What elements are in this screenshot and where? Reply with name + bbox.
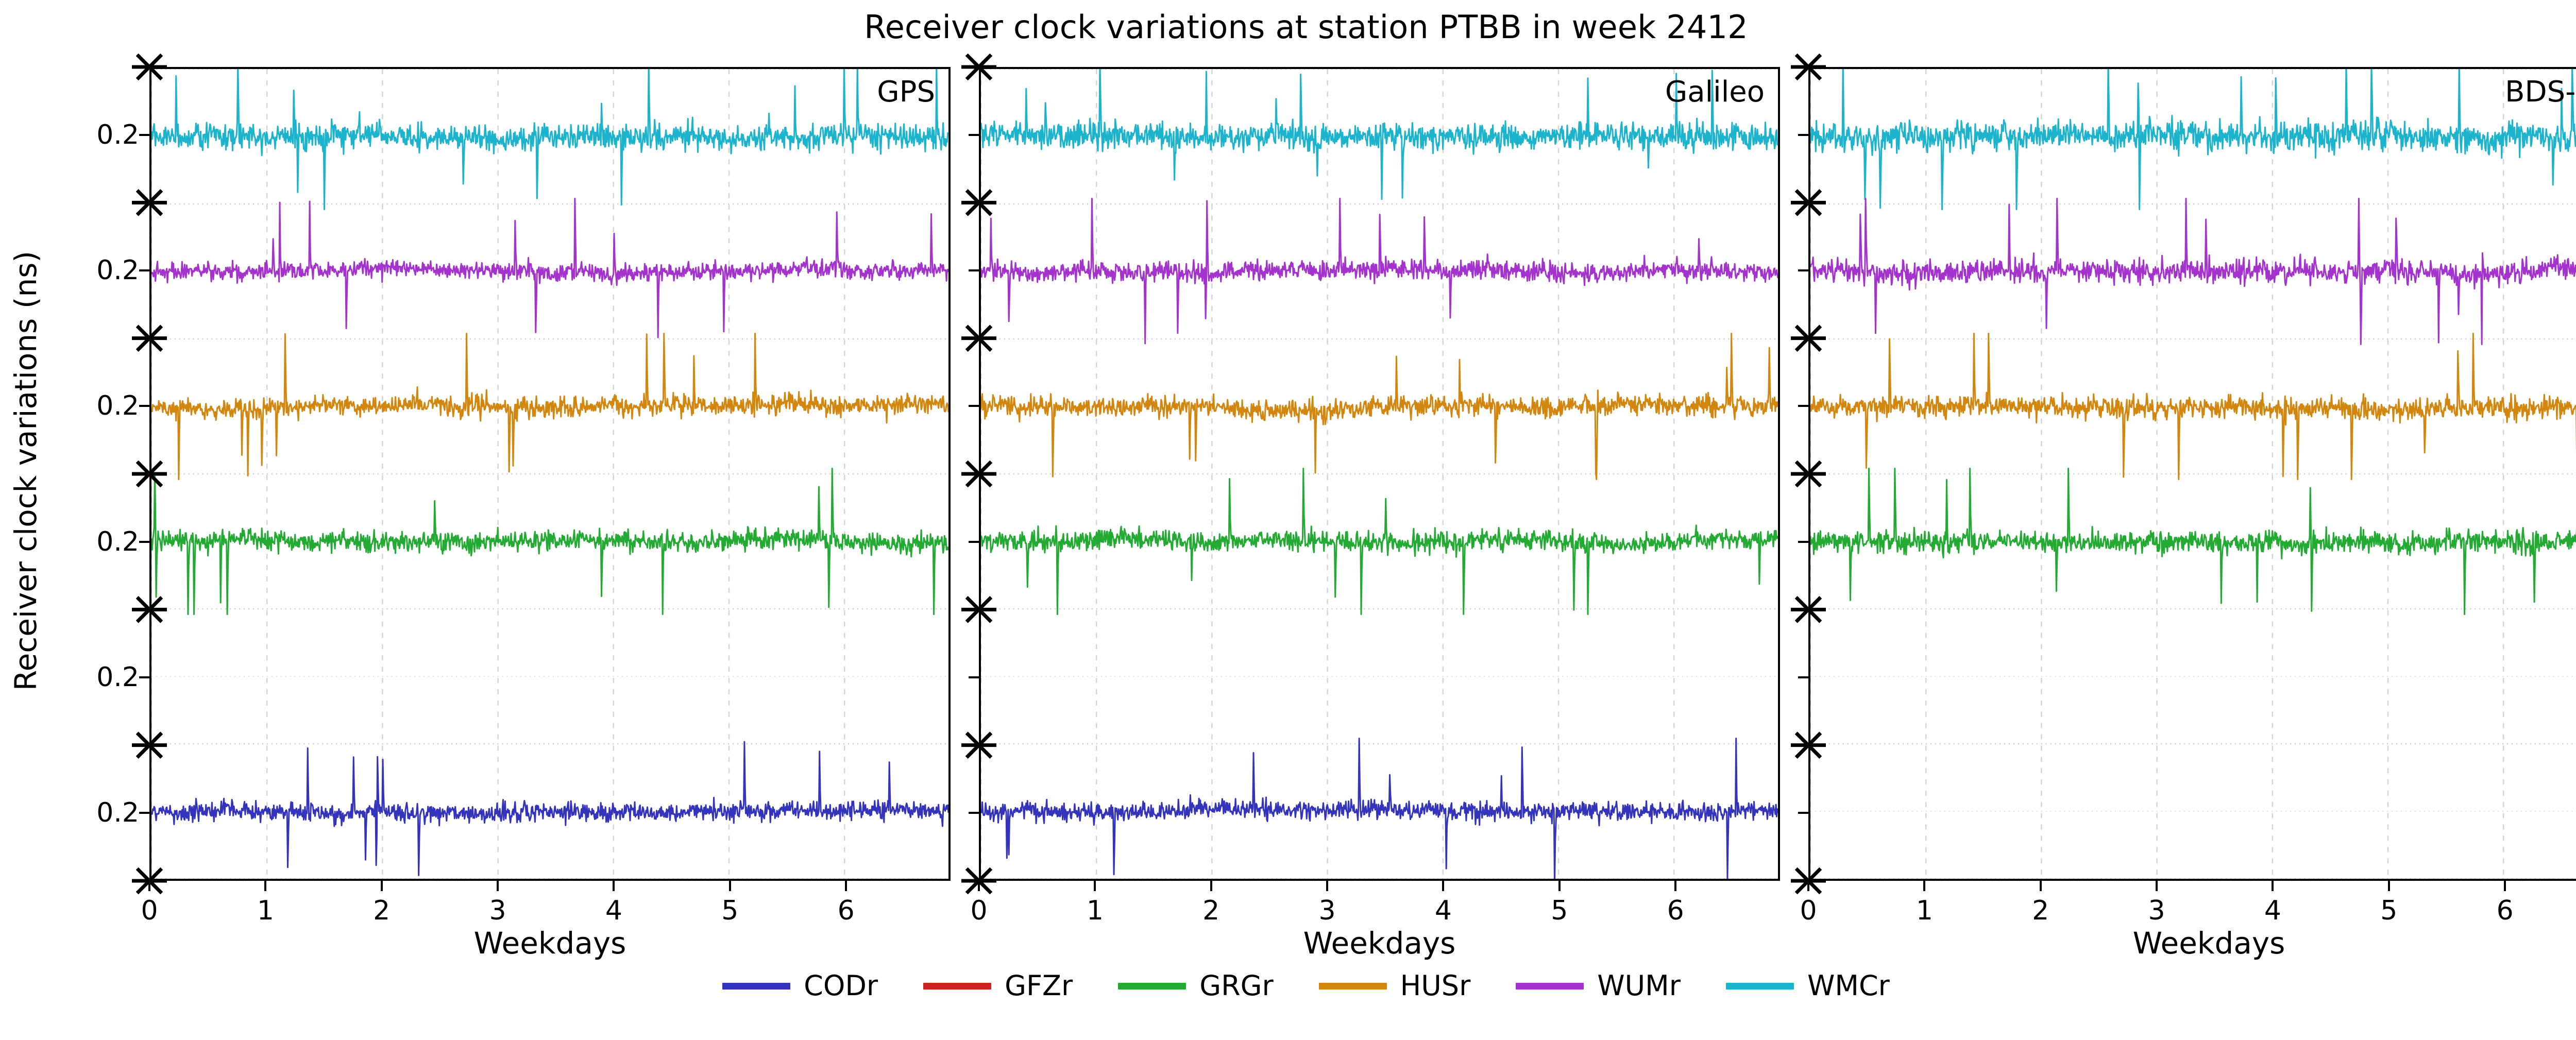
legend-item-grgr[interactable]: GRGr	[1118, 970, 1273, 1001]
legend: CODrGFZrGRGrHUSrWUMrWMCr	[0, 970, 2576, 1001]
panel-label-galileo: Galileo	[1665, 76, 1765, 108]
x-tick-mark	[1923, 881, 1925, 891]
x-tick-label: 3	[2126, 897, 2188, 924]
y-tick-label: 0.2	[62, 257, 139, 284]
x-tick-mark	[2504, 881, 2506, 891]
x-tick-mark	[2272, 881, 2274, 891]
y-tick-mark	[139, 269, 150, 271]
x-tick-mark	[497, 881, 499, 891]
x-tick-label: 5	[1529, 897, 1590, 924]
y-tick-label: 0.2	[62, 799, 139, 826]
x-tick-mark	[1094, 881, 1096, 891]
legend-label: CODr	[804, 970, 878, 1001]
series-line-codr	[151, 742, 948, 875]
y-tick-mark	[969, 676, 980, 678]
x-tick-mark	[264, 881, 266, 891]
x-tick-mark	[1442, 881, 1444, 891]
legend-item-wmcr[interactable]: WMCr	[1726, 970, 1890, 1001]
y-tick-label: 0.2	[62, 664, 139, 691]
series-line-husr	[151, 334, 948, 480]
series-line-wumr	[981, 199, 1778, 344]
y-tick-mark	[139, 405, 150, 407]
legend-item-codr[interactable]: CODr	[722, 970, 878, 1001]
y-tick-mark	[1798, 812, 1809, 814]
chart-figure: Receiver clock variations at station PTB…	[0, 0, 2576, 1040]
x-tick-label: 4	[583, 897, 645, 924]
x-axis-title: Weekdays	[1808, 927, 2576, 959]
panel-label-gps: GPS	[877, 76, 935, 108]
x-tick-mark	[729, 881, 731, 891]
legend-item-husr[interactable]: HUSr	[1319, 970, 1471, 1001]
panel-bds3[interactable]: BDS-3	[1808, 67, 2576, 881]
y-tick-labels: 0.20.20.20.20.20.2	[62, 67, 139, 881]
series-line-grgr	[151, 469, 948, 615]
x-tick-label: 4	[2242, 897, 2303, 924]
x-tick-label: 0	[948, 897, 1010, 924]
x-tick-mark	[1807, 881, 1809, 891]
legend-label: WUMr	[1597, 970, 1681, 1001]
series-line-wmcr	[1810, 69, 2576, 209]
x-tick-label: 6	[1645, 897, 1706, 924]
y-tick-mark	[1798, 134, 1809, 136]
x-tick-label: 6	[815, 897, 877, 924]
y-tick-mark	[1798, 269, 1809, 271]
x-tick-label: 3	[467, 897, 529, 924]
x-tick-label: 6	[2474, 897, 2536, 924]
series-line-wmcr	[981, 69, 1778, 199]
y-tick-mark	[969, 812, 980, 814]
y-tick-mark	[1798, 405, 1809, 407]
x-tick-label: 4	[1412, 897, 1474, 924]
x-tick-label: 3	[1296, 897, 1358, 924]
x-tick-label: 2	[1180, 897, 1242, 924]
panel-galileo[interactable]: Galileo	[979, 67, 1780, 881]
series-line-husr	[981, 334, 1778, 480]
x-tick-label: 2	[2010, 897, 2072, 924]
x-tick-mark	[845, 881, 847, 891]
x-tick-label: 0	[1777, 897, 1839, 924]
series-line-codr	[981, 739, 1778, 879]
x-tick-mark	[978, 881, 980, 891]
y-tick-mark	[969, 405, 980, 407]
x-tick-mark	[2040, 881, 2042, 891]
legend-color-swatch	[1516, 983, 1584, 990]
legend-color-swatch	[722, 983, 790, 990]
x-tick-mark	[1326, 881, 1328, 891]
x-tick-label: 1	[234, 897, 296, 924]
panel-label-bds3: BDS-3	[2505, 76, 2576, 108]
y-tick-mark	[139, 134, 150, 136]
x-tick-mark	[2156, 881, 2158, 891]
y-tick-mark	[139, 676, 150, 678]
x-tick-mark	[1210, 881, 1212, 891]
legend-color-swatch	[923, 983, 991, 990]
panel-plot-area	[981, 69, 1778, 879]
legend-label: GRGr	[1199, 970, 1273, 1001]
legend-label: GFZr	[1005, 970, 1073, 1001]
y-tick-label: 0.2	[62, 122, 139, 148]
x-tick-mark	[2388, 881, 2390, 891]
x-axis-title: Weekdays	[979, 927, 1780, 959]
y-tick-mark	[969, 134, 980, 136]
series-line-grgr	[1810, 469, 2576, 615]
x-tick-label: 2	[351, 897, 413, 924]
panel-plot-area	[151, 69, 948, 879]
legend-item-wumr[interactable]: WUMr	[1516, 970, 1681, 1001]
x-tick-label: 1	[1893, 897, 1955, 924]
x-tick-label: 1	[1064, 897, 1126, 924]
x-tick-label: 5	[699, 897, 761, 924]
y-tick-label: 0.2	[62, 528, 139, 555]
y-tick-label: 0.2	[62, 393, 139, 419]
y-tick-mark	[1798, 541, 1809, 543]
legend-label: WMCr	[1807, 970, 1890, 1001]
y-tick-mark	[139, 541, 150, 543]
x-tick-mark	[381, 881, 383, 891]
x-tick-mark	[613, 881, 615, 891]
series-line-wmcr	[151, 69, 948, 209]
series-line-wumr	[151, 199, 948, 338]
panel-plot-area	[1810, 69, 2576, 879]
series-line-grgr	[981, 469, 1778, 615]
x-axis-title: Weekdays	[149, 927, 951, 959]
y-axis-title: Receiver clock variations (ns)	[8, 84, 43, 857]
x-tick-label: 0	[118, 897, 180, 924]
y-tick-mark	[139, 812, 150, 814]
x-tick-label: 5	[2358, 897, 2420, 924]
y-tick-mark	[969, 269, 980, 271]
page-title: Receiver clock variations at station PTB…	[0, 9, 2576, 45]
y-tick-mark	[969, 541, 980, 543]
x-tick-mark	[1558, 881, 1561, 891]
x-tick-mark	[148, 881, 150, 891]
legend-item-gfzr[interactable]: GFZr	[923, 970, 1073, 1001]
legend-color-swatch	[1319, 983, 1387, 990]
legend-label: HUSr	[1400, 970, 1471, 1001]
legend-color-swatch	[1726, 983, 1794, 990]
panel-gps[interactable]: GPS	[149, 67, 951, 881]
x-tick-mark	[1674, 881, 1676, 891]
series-line-husr	[1810, 334, 2576, 480]
y-tick-mark	[1798, 676, 1809, 678]
legend-color-swatch	[1118, 983, 1186, 990]
